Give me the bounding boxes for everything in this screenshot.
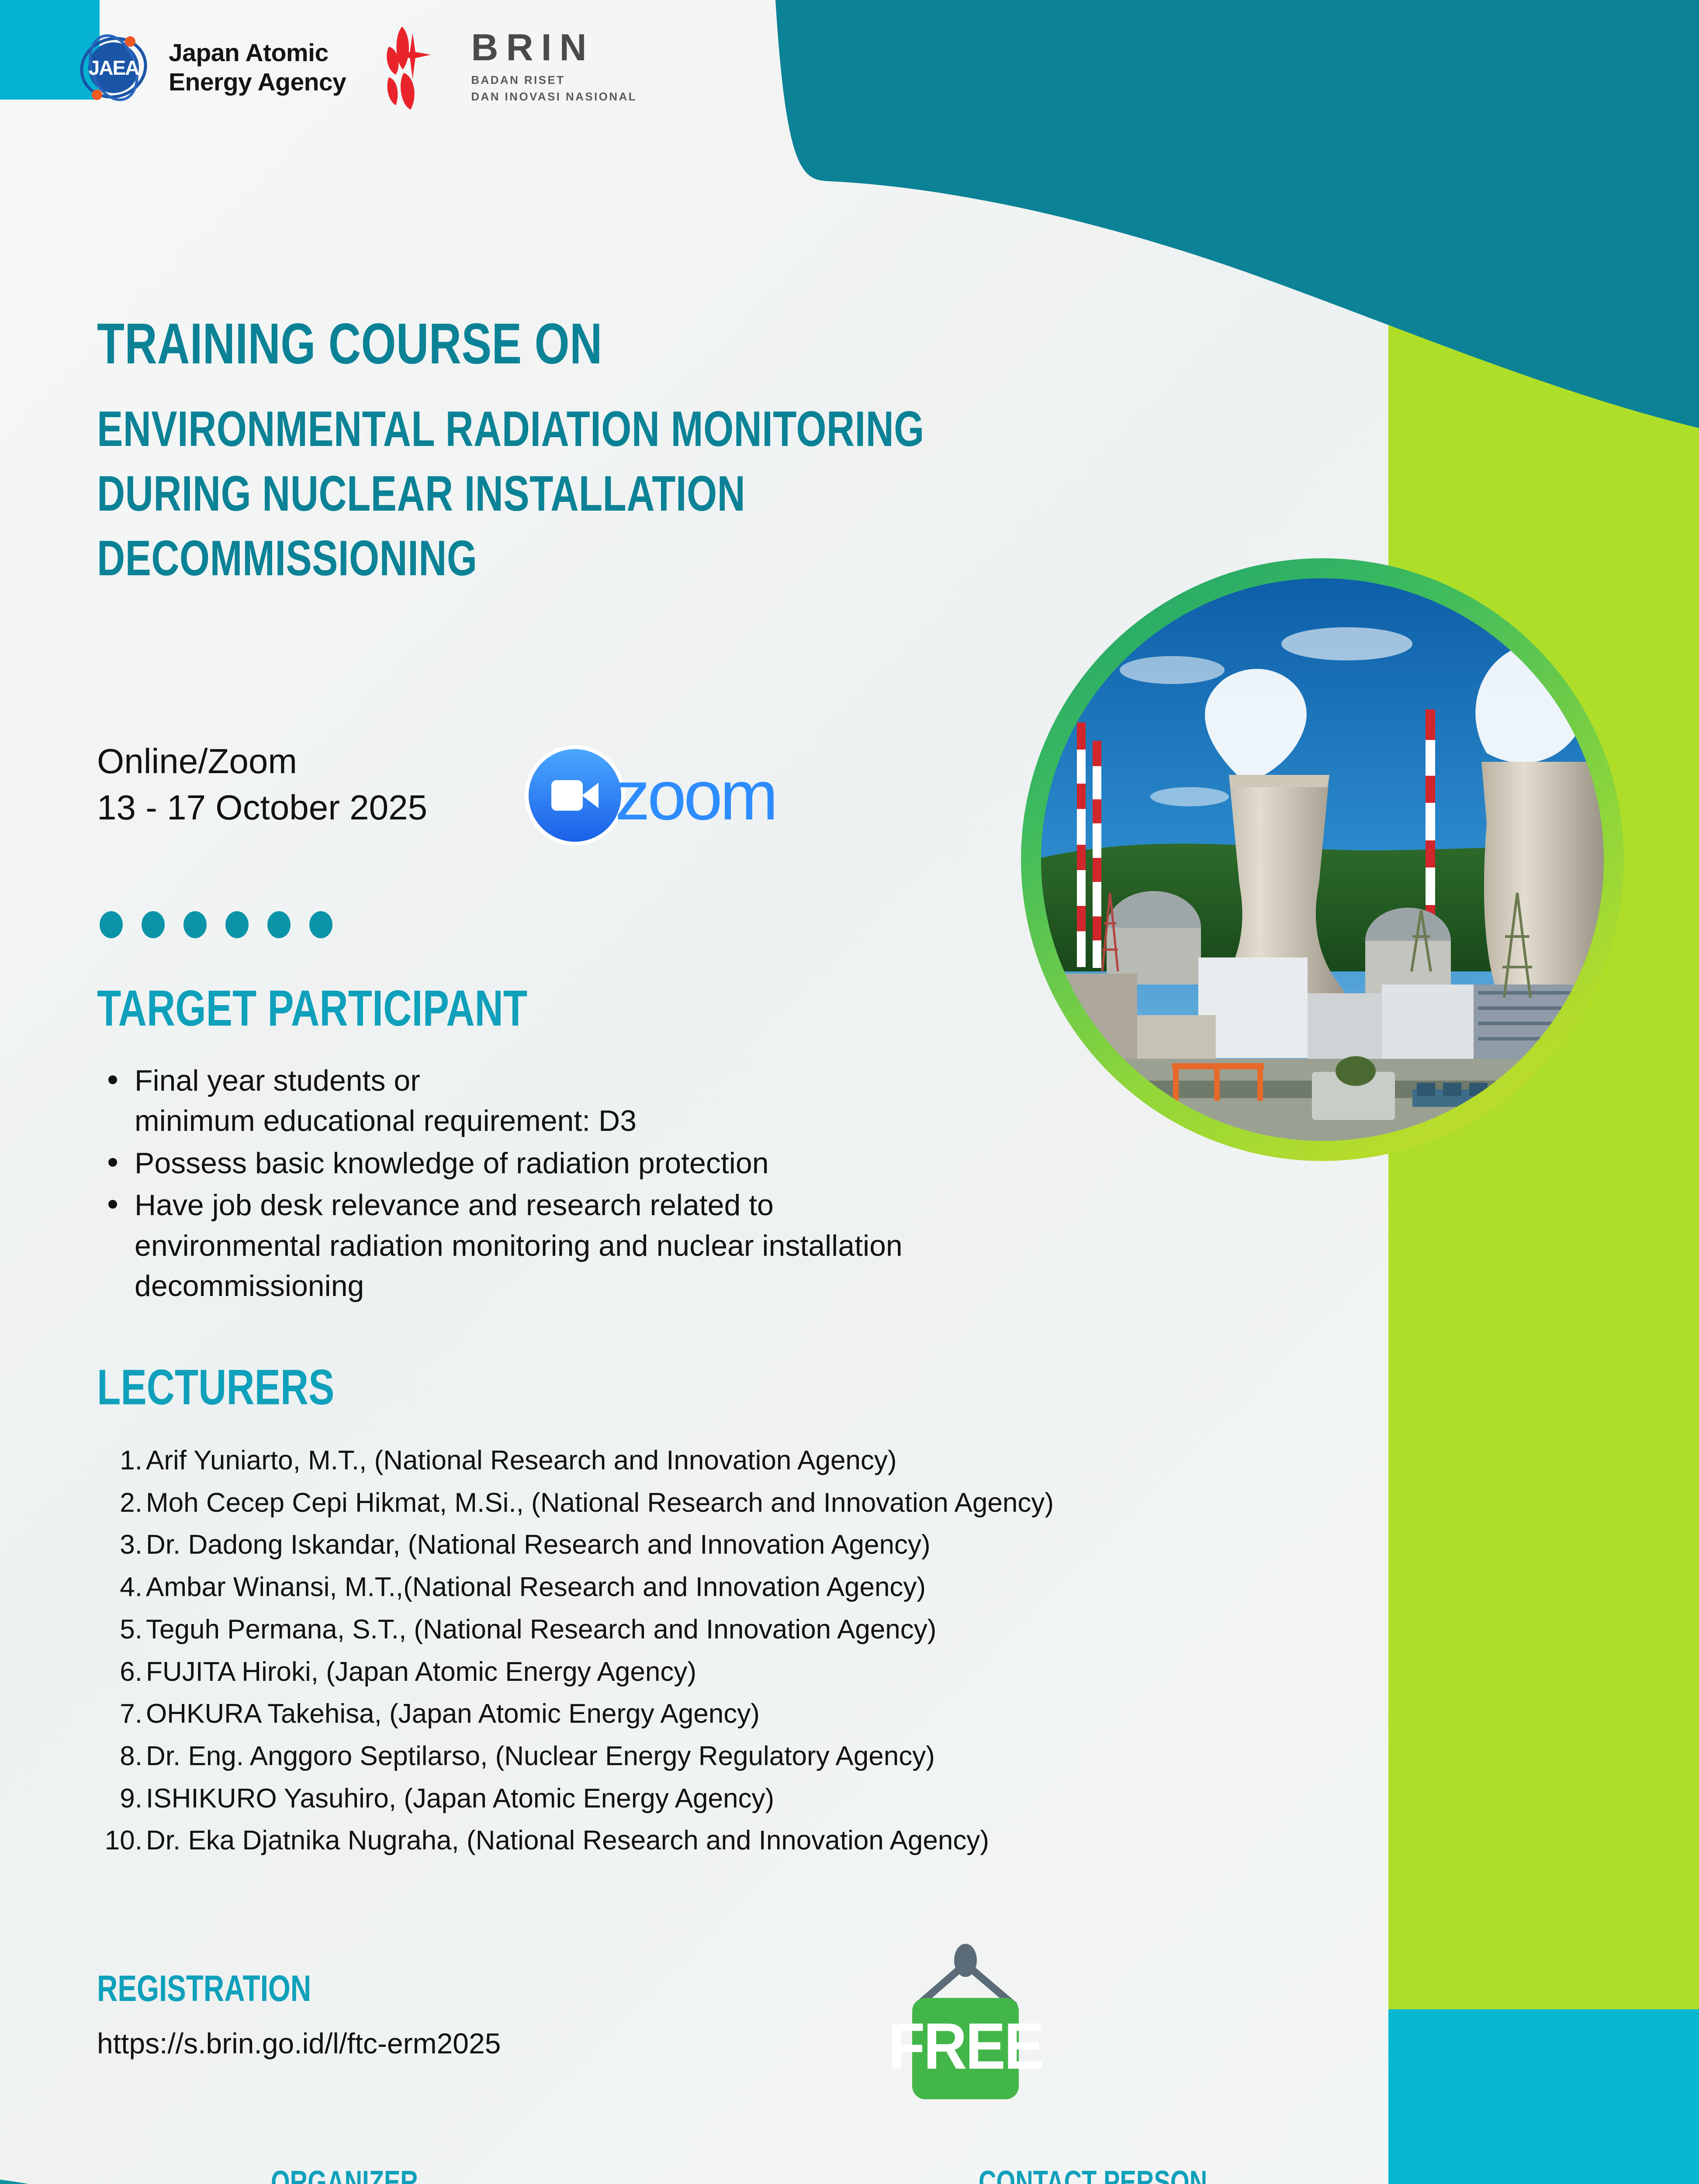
divider-dot bbox=[183, 911, 207, 938]
brin-sub-line2: DAN INOVASI NASIONAL bbox=[471, 89, 637, 105]
event-mode: Online/Zoom bbox=[97, 738, 427, 784]
contact-title: CONTACT PERSON bbox=[979, 2167, 1207, 2184]
jaea-atom-icon: JAEA bbox=[74, 28, 153, 107]
list-item: Final year students or minimum education… bbox=[97, 1061, 1211, 1141]
list-item: Possess basic knowledge of radiation pro… bbox=[97, 1143, 1211, 1183]
list-item: Arif Yuniarto, M.T., (National Research … bbox=[97, 1440, 1408, 1482]
contact-section: CONTACT PERSON Sasongko 0812-9978-3640 f… bbox=[979, 2167, 1272, 2184]
divider-dot bbox=[142, 911, 165, 938]
organizer-section: ORGANIZER Directorate for Competency Dev… bbox=[271, 2167, 730, 2184]
list-item: Have job desk relevance and research rel… bbox=[97, 1185, 1211, 1306]
brin-logo: BRIN BADAN RISET DAN INOVASI NASIONAL bbox=[377, 24, 637, 111]
target-participant-title: TARGET PARTICIPANT bbox=[97, 983, 966, 1033]
zoom-wordmark: zoom bbox=[615, 755, 775, 836]
list-item: Dr. Eng. Anggoro Septilarso, (Nuclear En… bbox=[97, 1735, 1408, 1778]
event-meta: Online/Zoom 13 - 17 October 2025 bbox=[97, 738, 427, 831]
registration-link[interactable]: https://s.brin.go.id/l/ftc-erm2025 bbox=[97, 2027, 501, 2060]
nuclear-plant-photo bbox=[1041, 578, 1604, 1141]
nuclear-plant-photo-ring bbox=[1021, 558, 1624, 1161]
lecturers-section: LECTURERS Arif Yuniarto, M.T., (National… bbox=[97, 1363, 1408, 1862]
divider-dot bbox=[225, 911, 249, 938]
list-item: Moh Cecep Cepi Hikmat, M.Si., (National … bbox=[97, 1482, 1408, 1524]
list-item: Ambar Winansi, M.T.,(National Research a… bbox=[97, 1566, 1408, 1609]
list-item: OHKURA Takehisa, (Japan Atomic Energy Ag… bbox=[97, 1693, 1408, 1735]
list-item: ISHIKURO Yasuhiro, (Japan Atomic Energy … bbox=[97, 1778, 1408, 1820]
brin-sub-line1: BADAN RISET bbox=[471, 72, 637, 89]
jaea-wordmark: Japan Atomic Energy Agency bbox=[169, 38, 346, 97]
registration-title: REGISTRATION bbox=[97, 1970, 412, 2007]
list-item: Dr. Eka Djatnika Nugraha, (National Rese… bbox=[97, 1820, 1408, 1862]
jaea-name-line1: Japan Atomic bbox=[169, 38, 346, 68]
headline-line-2: ENVIRONMENTAL RADIATION MONITORING bbox=[97, 397, 932, 462]
lecturers-list: Arif Yuniarto, M.T., (National Research … bbox=[97, 1440, 1408, 1862]
free-badge: FREE bbox=[869, 1939, 1062, 2114]
list-item: Dr. Dadong Iskandar, (National Research … bbox=[97, 1524, 1408, 1566]
jaea-name-line2: Energy Agency bbox=[169, 68, 346, 97]
list-item: FUJITA Hiroki, (Japan Atomic Energy Agen… bbox=[97, 1651, 1408, 1693]
divider-dot bbox=[267, 911, 291, 938]
organizer-title: ORGANIZER bbox=[271, 2167, 629, 2184]
divider-dot bbox=[100, 911, 123, 938]
target-participant-list: Final year students or minimum education… bbox=[97, 1061, 1211, 1306]
headline-line-3: DURING NUCLEAR INSTALLATION bbox=[97, 462, 932, 526]
target-participant-section: TARGET PARTICIPANT Final year students o… bbox=[97, 983, 1211, 1308]
jaea-logo: JAEA Japan Atomic Energy Agency bbox=[74, 28, 346, 107]
poster-canvas: JAEA Japan Atomic Energy Agency BRIN bbox=[0, 0, 1699, 2184]
divider-dot bbox=[309, 911, 332, 938]
headline-line-1: TRAINING COURSE ON bbox=[97, 314, 932, 373]
event-dates: 13 - 17 October 2025 bbox=[97, 784, 427, 831]
free-badge-label: FREE bbox=[888, 2010, 1042, 2083]
lecturers-title: LECTURERS bbox=[97, 1363, 1119, 1413]
logo-bar: JAEA Japan Atomic Energy Agency BRIN bbox=[74, 24, 637, 111]
brin-symbol-icon bbox=[377, 24, 460, 111]
brin-wordmark: BRIN BADAN RISET DAN INOVASI NASIONAL bbox=[471, 30, 637, 105]
brin-name: BRIN bbox=[471, 30, 637, 66]
headline-line-4: DECOMMISSIONING bbox=[97, 526, 932, 591]
right-cyan-block bbox=[1388, 2009, 1699, 2184]
registration-section: REGISTRATION https://s.brin.go.id/l/ftc-… bbox=[97, 1970, 501, 2060]
zoom-logo: zoom bbox=[529, 749, 775, 842]
dot-divider bbox=[100, 911, 332, 938]
svg-text:JAEA: JAEA bbox=[89, 56, 139, 79]
list-item: Teguh Permana, S.T., (National Research … bbox=[97, 1609, 1408, 1651]
headline: TRAINING COURSE ON ENVIRONMENTAL RADIATI… bbox=[97, 314, 1167, 591]
zoom-camera-icon bbox=[529, 749, 621, 842]
